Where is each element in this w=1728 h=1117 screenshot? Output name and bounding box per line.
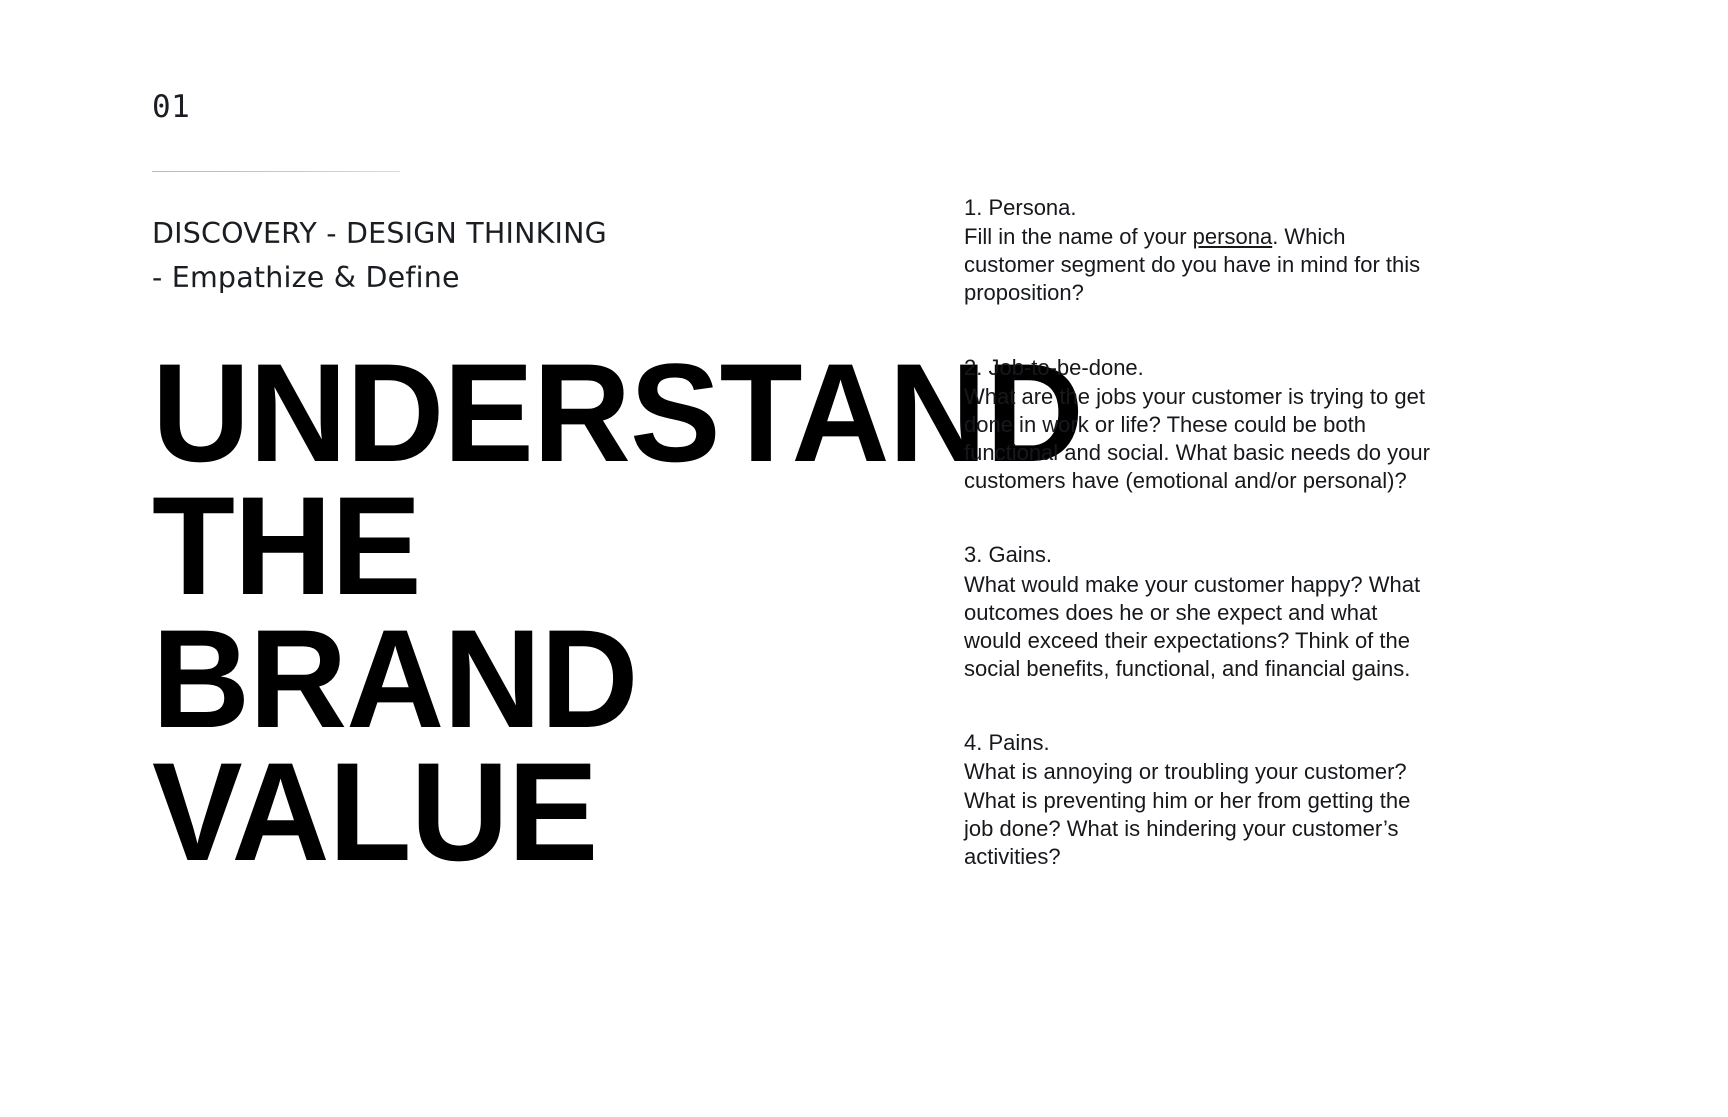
page-title: UNDERSTAND THE BRAND VALUE	[152, 346, 909, 878]
eyebrow-subtitle: DISCOVERY - DESIGN THINKING - Empathize …	[152, 212, 932, 300]
question-body: What are the jobs your customer is tryin…	[964, 383, 1432, 496]
question-heading: 4. Pains.	[964, 729, 1432, 757]
question-heading: 3. Gains.	[964, 541, 1432, 569]
question-heading: 2. Job-to-be-done.	[964, 354, 1432, 382]
section-number: 01	[152, 92, 932, 123]
question-block-gains: 3. Gains. What would make your customer …	[964, 541, 1432, 683]
persona-link[interactable]: persona	[1193, 224, 1273, 249]
left-column: 01 DISCOVERY - DESIGN THINKING - Empathi…	[152, 92, 932, 972]
question-block-job-to-be-done: 2. Job-to-be-done. What are the jobs you…	[964, 354, 1432, 496]
slide-canvas: 01 DISCOVERY - DESIGN THINKING - Empathi…	[0, 0, 1728, 1117]
question-heading: 1. Persona.	[964, 194, 1432, 222]
question-block-pains: 4. Pains. What is annoying or troubling …	[964, 729, 1432, 871]
question-body-part-1: Fill in the name of your	[964, 224, 1193, 249]
question-body: Fill in the name of your persona. Which …	[964, 223, 1432, 307]
divider-rule	[152, 171, 400, 172]
question-body: What would make your customer happy? Wha…	[964, 571, 1432, 684]
question-body: What is annoying or troubling your custo…	[964, 758, 1432, 871]
questions-column: 1. Persona. Fill in the name of your per…	[964, 194, 1432, 871]
question-block-persona: 1. Persona. Fill in the name of your per…	[964, 194, 1432, 308]
